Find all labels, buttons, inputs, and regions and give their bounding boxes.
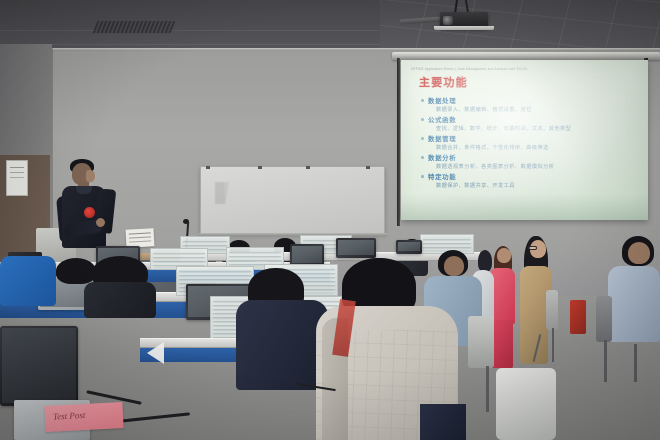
chair-leg <box>604 340 607 382</box>
slide-group-heading: 数据管理 <box>428 134 640 143</box>
chair-red <box>570 300 586 334</box>
student-body <box>84 282 156 318</box>
slide-group: 数据处理 数据录入、数据编辑、格式设置、定位 <box>421 96 640 113</box>
slide-group-heading: 公式函数 <box>428 115 640 124</box>
screen-housing <box>392 52 660 60</box>
presenter-face <box>86 170 95 182</box>
whiteboard-clip <box>258 166 262 169</box>
attendee-hair <box>478 250 492 272</box>
chair-foreground <box>496 368 556 440</box>
student-head <box>56 258 96 284</box>
chair-leg <box>552 328 554 362</box>
monitor <box>290 244 324 266</box>
slide-group-heading: 特定功能 <box>428 172 640 181</box>
projection-screen: OFFICE Application Series | Data Managem… <box>401 60 648 220</box>
screen-left-edge <box>397 58 400 226</box>
ceiling-vent <box>93 21 176 33</box>
slide-group-items: 数据录入、数据编辑、格式设置、定位 <box>436 106 640 113</box>
wall-trim <box>0 48 660 51</box>
slide-title: 主要功能 <box>419 74 640 90</box>
whiteboard-markings <box>215 182 345 204</box>
slide-group: 数据分析 数据透视表分析、各类图表分析、数据模拟分析 <box>421 153 640 170</box>
slide-group: 特定功能 数据保护、数据共享、开发工具 <box>421 172 640 189</box>
slide-group-items: 数据合并、条件格式、个性化排序、高级筛选 <box>436 144 640 151</box>
chair <box>596 296 612 342</box>
classroom-scene: OFFICE Application Series | Data Managem… <box>0 0 660 440</box>
whiteboard-clip <box>306 166 310 169</box>
monitor <box>0 326 78 406</box>
attendee-blue-shirt <box>608 266 660 342</box>
projector-base-plate <box>434 26 494 30</box>
chair-leg <box>634 344 637 382</box>
chair <box>468 316 494 368</box>
projector-lens-icon <box>443 16 453 25</box>
slide-group-heading: 数据处理 <box>428 96 640 105</box>
presenter-hand <box>96 218 105 227</box>
monitor <box>336 238 376 258</box>
ceiling-grid-panels <box>380 0 660 52</box>
slide-group-items: 数据保护、数据共享、开发工具 <box>436 182 640 189</box>
presenter-shirt-logo <box>84 207 95 218</box>
podium-papers <box>126 228 155 247</box>
student-blue-jacket <box>0 256 56 306</box>
glasses-icon <box>528 246 537 250</box>
attendee-head <box>628 242 650 264</box>
attendee-head <box>497 248 511 263</box>
slide-group-heading: 数据分析 <box>428 153 640 162</box>
chair-leg <box>486 366 489 412</box>
slide-group: 数据管理 数据合并、条件格式、个性化排序、高级筛选 <box>421 134 640 151</box>
pink-desk-label: Test Post <box>44 402 123 432</box>
whiteboard-clip <box>366 166 370 169</box>
slide: OFFICE Application Series | Data Managem… <box>401 60 648 220</box>
slide-group-items: 查找、逻辑、数学、统计、日期时间、文本、其他类型 <box>436 125 640 132</box>
slide-body: 数据处理 数据录入、数据编辑、格式设置、定位 公式函数 查找、逻辑、数学、统计、… <box>421 96 640 189</box>
chair <box>546 290 558 330</box>
wall-poster <box>6 160 28 196</box>
slide-group-items: 数据透视表分析、各类图表分析、数据模拟分析 <box>436 163 640 170</box>
attendee-trousers <box>420 404 466 440</box>
attendee-head <box>444 256 464 276</box>
slide-group: 公式函数 查找、逻辑、数学、统计、日期时间、文本、其他类型 <box>421 115 640 132</box>
pink-desk-label-text: Test Post <box>53 410 86 422</box>
monitor <box>396 240 422 254</box>
attendee-navy-sweater <box>236 300 328 390</box>
paper-marker-icon <box>147 342 164 364</box>
presenter-collar <box>76 186 92 194</box>
whiteboard-clip <box>206 166 210 169</box>
slide-header: OFFICE Application Series | Data Managem… <box>411 66 640 71</box>
